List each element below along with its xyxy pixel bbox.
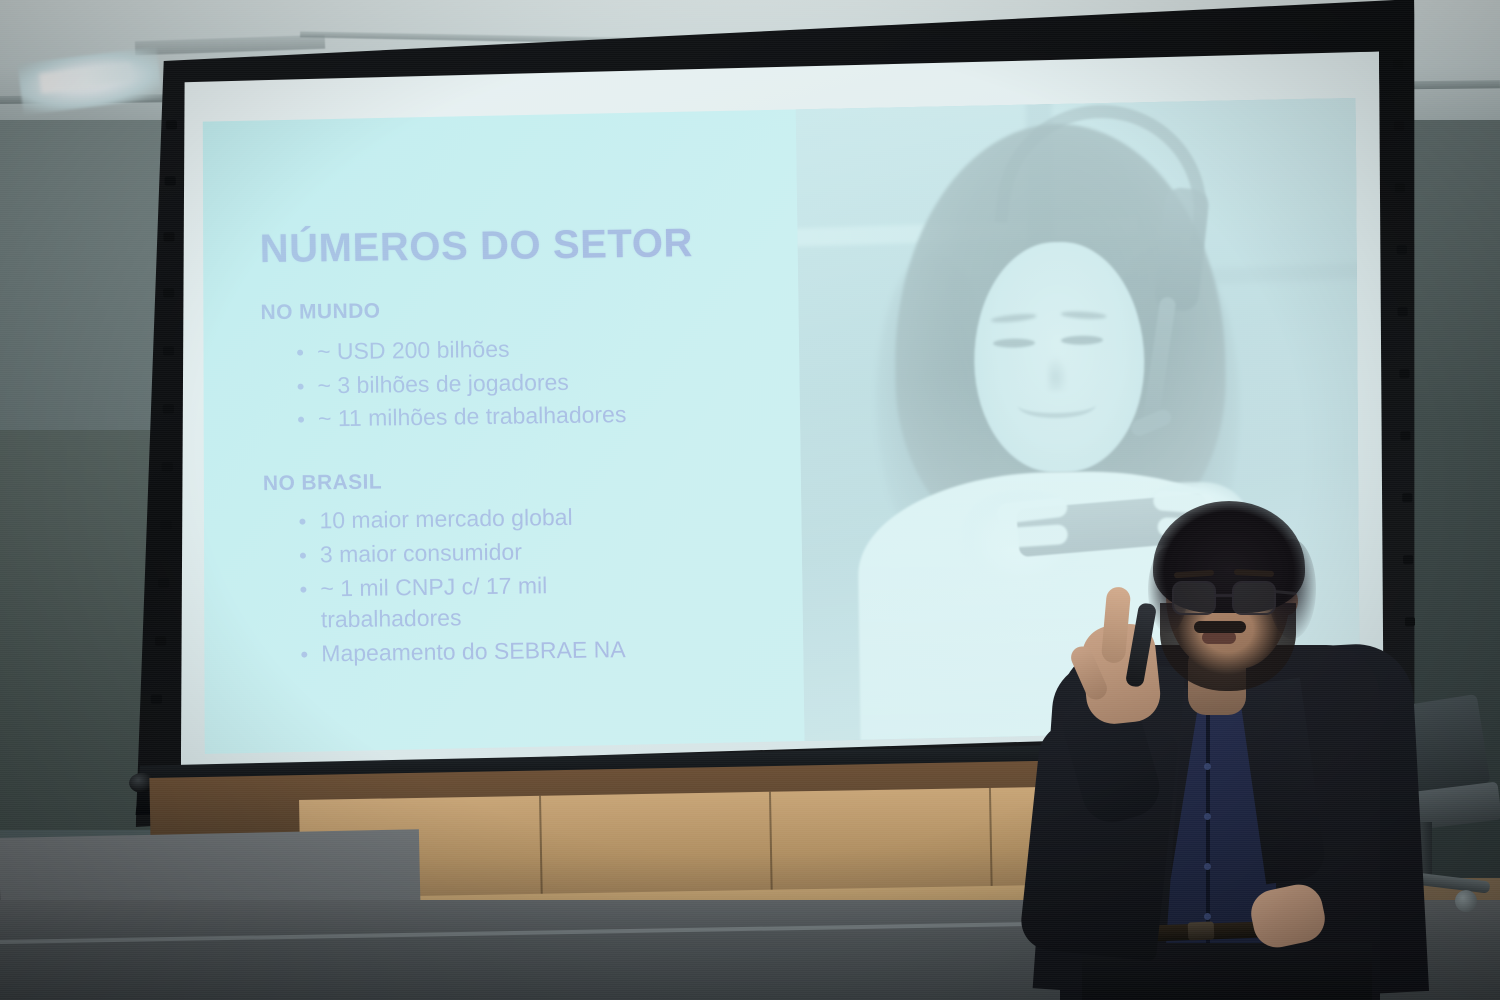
stage-panel-seam	[539, 796, 543, 906]
screen-tension-tab	[151, 695, 162, 704]
slide-section-heading-brasil: NO BRASIL	[263, 465, 803, 497]
screen-tension-tab	[1397, 245, 1407, 254]
screen-tension-tab	[160, 520, 171, 529]
screen-tension-tab	[166, 120, 177, 129]
slide-text-column: NÚMEROS DO SETOR NO MUNDO ~ USD 200 bilh…	[259, 222, 805, 673]
presenter-shirt-button	[1204, 913, 1211, 920]
chair-caster-wheel	[1455, 890, 1477, 912]
screen-tension-tab	[1394, 121, 1404, 130]
slide-bullet-list-brasil: 10 maior mercado global 3 maior consumid…	[297, 499, 805, 671]
presenter-shirt-button	[1204, 863, 1211, 870]
stage-panel-seam	[989, 788, 993, 898]
screen-tension-tab	[163, 346, 174, 355]
list-item: ~ 1 mil CNPJ c/ 17 mil trabalhadores	[298, 570, 569, 637]
presenter-belt-buckle	[1188, 922, 1215, 941]
list-item: ~ 3 bilhões de jogadores	[295, 363, 801, 402]
screen-tension-tab	[1399, 369, 1409, 378]
screen-tension-tab	[162, 462, 173, 471]
presenter-mustache	[1194, 621, 1246, 633]
slide-title: NÚMEROS DO SETOR	[259, 222, 800, 270]
list-item: 3 maior consumidor	[298, 533, 804, 572]
list-item: Mapeamento do SEBRAE NA	[299, 632, 805, 671]
screen-tension-tab	[1400, 431, 1410, 440]
screen-tension-tab	[1395, 183, 1405, 192]
glasses-bridge	[1216, 594, 1234, 597]
glasses-icon	[1172, 581, 1216, 615]
screen-tension-tab	[163, 288, 174, 297]
slide-bullet-list-mundo: ~ USD 200 bilhões ~ 3 bilhões de jogador…	[295, 330, 802, 436]
presenter-shirt-button	[1204, 813, 1211, 820]
screen-tension-tab	[1393, 59, 1403, 68]
stage-panel-seam	[769, 792, 773, 902]
presenter-shirt-button	[1204, 763, 1211, 770]
list-item: 10 maior mercado global	[297, 499, 803, 538]
screen-tension-tab	[1398, 307, 1408, 316]
slide-section-heading-mundo: NO MUNDO	[260, 294, 800, 326]
list-item: ~ 11 milhões de trabalhadores	[296, 397, 802, 436]
screen-tension-tab	[155, 637, 166, 646]
screen-tension-tab	[163, 404, 174, 413]
screen-tension-tab	[158, 578, 169, 587]
list-item: ~ USD 200 bilhões	[295, 330, 801, 369]
screen-tension-tab	[163, 232, 174, 241]
presentation-room-scene: NÚMEROS DO SETOR NO MUNDO ~ USD 200 bilh…	[0, 0, 1500, 1000]
screen-tension-tab	[165, 176, 176, 185]
glasses-icon	[1232, 581, 1276, 615]
presenter-speaker	[1020, 495, 1440, 1000]
